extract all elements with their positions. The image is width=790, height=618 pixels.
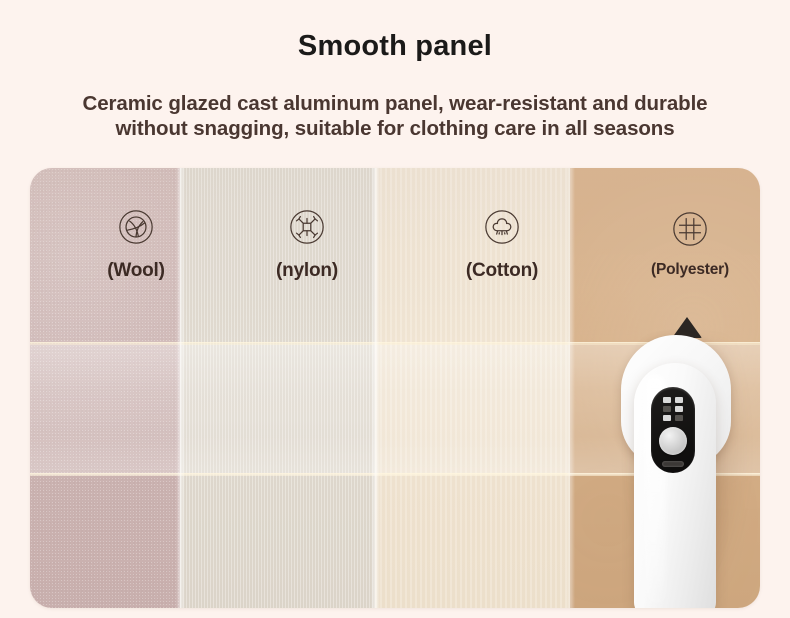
indicator-light [675, 406, 683, 412]
swatch-label-polyester: (Polyester) [610, 210, 760, 279]
subtitle-line-1: Ceramic glazed cast aluminum panel, wear… [0, 91, 790, 116]
wool-yarn-ball-icon [117, 208, 155, 246]
page-subtitle: Ceramic glazed cast aluminum panel, wear… [0, 91, 790, 141]
page-title: Smooth panel [0, 30, 790, 63]
product-feature-image: Smooth panel Ceramic glazed cast aluminu… [0, 0, 790, 618]
indicator-light [675, 397, 683, 403]
indicator-light [663, 415, 671, 421]
swatch-caption-nylon: (nylon) [227, 260, 387, 282]
swatch-caption-wool: (Wool) [56, 260, 216, 282]
indicator-light [675, 415, 683, 421]
swatch-label-nylon: (nylon) [227, 208, 387, 282]
power-button[interactable] [659, 427, 687, 455]
fabric-swatch-panel: (Wool) (nylon) [30, 168, 760, 608]
swatch-caption-polyester: (Polyester) [610, 261, 760, 279]
nylon-molecule-icon [288, 208, 326, 246]
indicator-light [663, 397, 671, 403]
swatch-label-cotton: (Cotton) [422, 208, 582, 282]
indicator-light [663, 406, 671, 412]
swatch-caption-cotton: (Cotton) [422, 260, 582, 282]
swatch-label-wool: (Wool) [56, 208, 216, 282]
subtitle-line-2: without snagging, suitable for clothing … [0, 116, 790, 141]
polyester-weave-grid-icon [671, 210, 709, 248]
iron-indicator-lights [663, 397, 683, 421]
handheld-steamer-iron [600, 305, 760, 608]
cotton-boll-icon [483, 208, 521, 246]
usb-c-port [662, 461, 684, 467]
